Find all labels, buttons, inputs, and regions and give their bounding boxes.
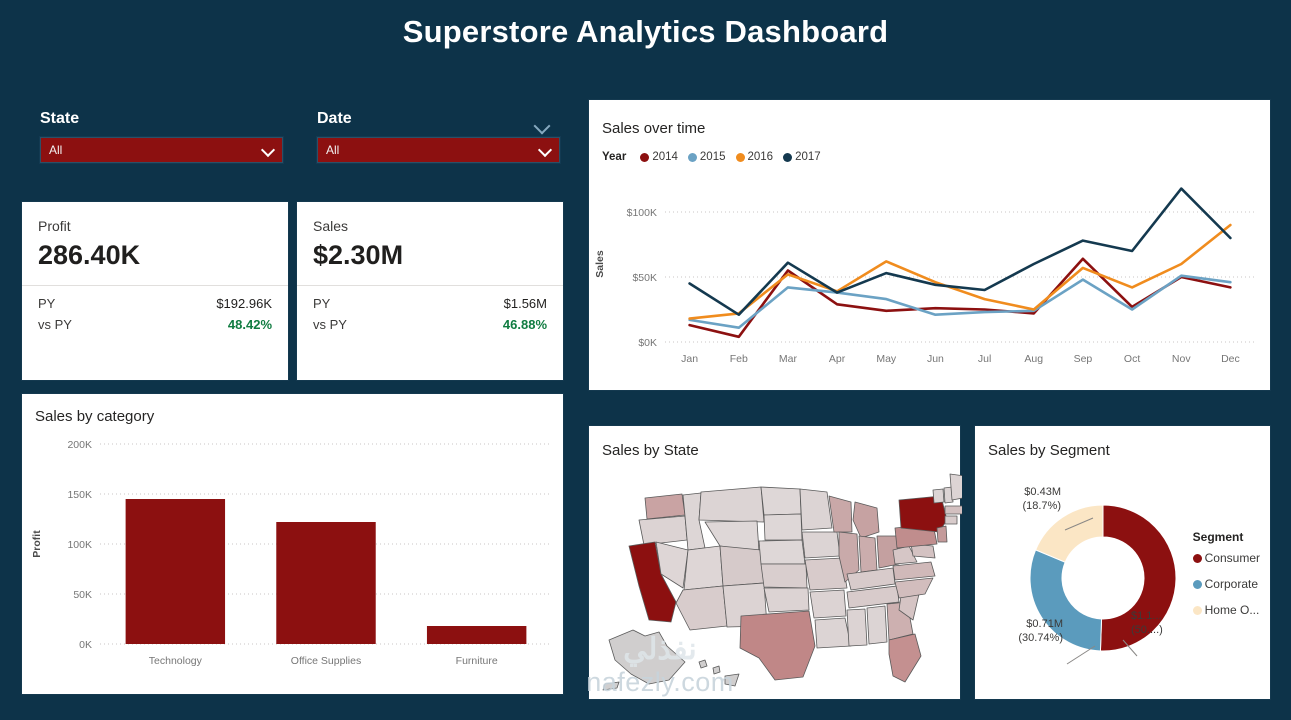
kpi-card-profit[interactable]: Profit 286.40K PY $192.96K vs PY 48.42%: [21, 201, 289, 381]
svg-text:Technology: Technology: [149, 655, 203, 667]
chevron-down-icon: [263, 144, 274, 155]
svg-text:0K: 0K: [79, 639, 92, 651]
state-washington: [645, 494, 685, 519]
bar-chart-canvas: Profit0K50K100K150K200KTechnologyOffice …: [22, 432, 565, 694]
kpi-sales-py-value: $1.56M: [504, 296, 547, 311]
donut-callout-corporate-percent: (30.74%): [977, 632, 1063, 646]
chart-sales-by-category[interactable]: Sales by category Profit0K50K100K150K200…: [21, 393, 564, 695]
state-texas: [740, 611, 815, 680]
svg-text:Jun: Jun: [927, 353, 944, 365]
legend-label-2017: 2017: [795, 151, 821, 163]
slicer-date-label: Date: [317, 110, 560, 128]
state-wisconsin: [829, 496, 852, 532]
slicer-date[interactable]: Date All: [317, 110, 560, 163]
state-connecticut: [945, 516, 957, 524]
donut-swatch-home-office: [1193, 606, 1202, 615]
donut-callout-home-office-value: $0.43M: [979, 486, 1061, 500]
donut-callout-corporate: $0.71M (30.74%): [977, 618, 1063, 646]
kpi-sales-value: $2.30M: [313, 240, 547, 271]
us-map-choropleth[interactable]: [589, 470, 962, 698]
kpi-sales-vspy-value: 46.88%: [503, 317, 547, 332]
donut-swatch-consumer: [1193, 554, 1202, 563]
state-arizona: [676, 586, 727, 630]
state-michigan: [853, 502, 879, 538]
chart-title-sales-by-segment: Sales by Segment: [988, 442, 1110, 459]
state-minnesota: [800, 489, 832, 530]
state-hawaii-3: [725, 674, 739, 686]
legend-item-2015[interactable]: 2015: [688, 151, 726, 163]
svg-text:Oct: Oct: [1124, 353, 1140, 365]
dashboard-root: Superstore Analytics Dashboard State All…: [0, 0, 1291, 720]
donut-legend-label-consumer: Consumer: [1205, 551, 1260, 565]
slicer-state[interactable]: State All: [40, 110, 283, 163]
kpi-profit-py-value: $192.96K: [216, 296, 272, 311]
state-florida: [889, 634, 921, 682]
donut-callout-home-office-percent: (18.7%): [979, 500, 1061, 514]
donut-callout-home-office: $0.43M (18.7%): [979, 486, 1061, 514]
donut-swatch-corporate: [1193, 580, 1202, 589]
chart-sales-over-time[interactable]: Sales over time Year 2014 2015 2016 2017…: [588, 99, 1271, 391]
slicer-date-value: All: [326, 143, 339, 157]
state-arkansas: [810, 590, 846, 618]
svg-text:Sep: Sep: [1074, 353, 1093, 365]
donut-slice-2: [1036, 505, 1103, 562]
state-iowa: [802, 532, 840, 558]
state-massachusetts: [945, 506, 962, 514]
legend-swatch-2014: [640, 153, 649, 162]
svg-text:Nov: Nov: [1172, 353, 1191, 365]
donut-legend-label-home-office: Home O...: [1205, 603, 1260, 617]
state-indiana: [859, 536, 877, 572]
legend-label-2014: 2014: [652, 151, 678, 163]
state-hawaii-2: [713, 666, 720, 674]
line-chart-canvas: Sales$0K$50K$100KJanFebMarAprMayJunJulAu…: [589, 172, 1272, 387]
state-alaska: [609, 630, 685, 684]
state-oregon: [639, 516, 687, 545]
state-new-jersey: [937, 526, 947, 542]
svg-text:200K: 200K: [67, 439, 92, 451]
slicer-state-dropdown[interactable]: All: [40, 137, 283, 163]
state-louisiana: [815, 618, 851, 648]
kpi-profit-py-label: PY: [38, 296, 55, 311]
donut-legend-label-corporate: Corporate: [1205, 577, 1258, 591]
kpi-profit-vspy-label: vs PY: [38, 317, 72, 332]
donut-callout-consumer-value: $1.1...: [1131, 610, 1191, 624]
donut-callout-consumer: $1.1... (50....): [1131, 610, 1191, 638]
legend-item-2016[interactable]: 2016: [736, 151, 774, 163]
svg-text:$50K: $50K: [632, 272, 657, 284]
svg-text:Mar: Mar: [779, 353, 798, 365]
legend-item-2014[interactable]: 2014: [640, 151, 678, 163]
state-colorado: [720, 546, 764, 586]
state-south-dakota: [764, 514, 802, 540]
bar-2: [427, 626, 526, 644]
svg-text:100K: 100K: [67, 539, 92, 551]
kpi-sales-py-label: PY: [313, 296, 330, 311]
kpi-card-sales[interactable]: Sales $2.30M PY $1.56M vs PY 46.88%: [296, 201, 564, 381]
state-alaska-islands: [603, 682, 619, 690]
svg-text:$0K: $0K: [638, 337, 657, 349]
legend-item-2017[interactable]: 2017: [783, 151, 821, 163]
donut-callout-corporate-value: $0.71M: [977, 618, 1063, 632]
donut-legend-item-consumer[interactable]: Consumer: [1193, 551, 1260, 565]
svg-text:Profit: Profit: [31, 530, 43, 558]
svg-text:Sales: Sales: [594, 250, 606, 278]
state-mississippi: [847, 609, 867, 646]
svg-text:150K: 150K: [67, 489, 92, 501]
donut-legend-title: Segment: [1193, 530, 1260, 544]
kpi-profit-vspy-row: vs PY 48.42%: [38, 317, 272, 332]
svg-text:Furniture: Furniture: [456, 655, 498, 667]
expand-chevron-down-icon[interactable]: [534, 120, 550, 132]
donut-legend-item-home-office[interactable]: Home O...: [1193, 603, 1260, 617]
state-utah: [684, 546, 723, 590]
svg-text:Apr: Apr: [829, 353, 846, 365]
state-maine: [950, 474, 962, 500]
state-north-carolina: [895, 578, 933, 598]
svg-text:May: May: [876, 353, 897, 365]
legend-swatch-2016: [736, 153, 745, 162]
slicer-date-dropdown[interactable]: All: [317, 137, 560, 163]
kpi-sales-vspy-label: vs PY: [313, 317, 347, 332]
donut-callout-consumer-percent: (50....): [1131, 624, 1191, 638]
kpi-profit-name: Profit: [38, 218, 272, 234]
page-title: Superstore Analytics Dashboard: [0, 14, 1291, 50]
kpi-profit-py-row: PY $192.96K: [38, 296, 272, 311]
svg-text:Feb: Feb: [730, 353, 748, 365]
svg-text:50K: 50K: [73, 589, 92, 601]
state-hawaii: [699, 660, 707, 668]
donut-legend-item-corporate[interactable]: Corporate: [1193, 577, 1260, 591]
state-virginia: [893, 562, 935, 580]
state-montana: [699, 487, 764, 522]
bar-1: [276, 522, 375, 644]
state-nebraska: [759, 540, 805, 564]
legend-year: Year 2014 2015 2016 2017: [602, 151, 821, 163]
svg-text:Aug: Aug: [1024, 353, 1043, 365]
chart-sales-by-segment[interactable]: Sales by Segment $0.43M (18.7%) $0.71M (…: [974, 425, 1271, 700]
svg-text:Jul: Jul: [978, 353, 991, 365]
state-alabama: [867, 606, 887, 644]
state-north-dakota: [761, 487, 801, 515]
kpi-sales-py-row: PY $1.56M: [313, 296, 547, 311]
svg-text:Office Supplies: Office Supplies: [291, 655, 361, 667]
legend-label-2016: 2016: [748, 151, 774, 163]
svg-text:$100K: $100K: [627, 207, 657, 219]
state-vermont: [933, 489, 944, 503]
svg-text:Jan: Jan: [681, 353, 698, 365]
slicer-state-value: All: [49, 143, 62, 157]
chart-sales-by-state[interactable]: Sales by State: [588, 425, 961, 700]
legend-swatch-2017: [783, 153, 792, 162]
donut-legend: Segment Consumer Corporate Home O...: [1193, 530, 1260, 629]
slicer-state-label: State: [40, 110, 283, 128]
chart-title-sales-by-state: Sales by State: [602, 442, 699, 459]
chevron-down-icon: [540, 144, 551, 155]
bar-0: [126, 499, 225, 644]
legend-swatch-2015: [688, 153, 697, 162]
svg-text:Dec: Dec: [1221, 353, 1240, 365]
chart-title-sales-over-time: Sales over time: [602, 120, 705, 137]
chart-title-sales-by-category: Sales by category: [35, 408, 154, 425]
state-oklahoma: [764, 588, 809, 612]
state-kansas: [761, 564, 807, 588]
kpi-profit-vspy-value: 48.42%: [228, 317, 272, 332]
kpi-sales-vspy-row: vs PY 46.88%: [313, 317, 547, 332]
legend-label-2015: 2015: [700, 151, 726, 163]
kpi-sales-name: Sales: [313, 218, 547, 234]
kpi-profit-value: 286.40K: [38, 240, 272, 271]
legend-title: Year: [602, 151, 626, 163]
